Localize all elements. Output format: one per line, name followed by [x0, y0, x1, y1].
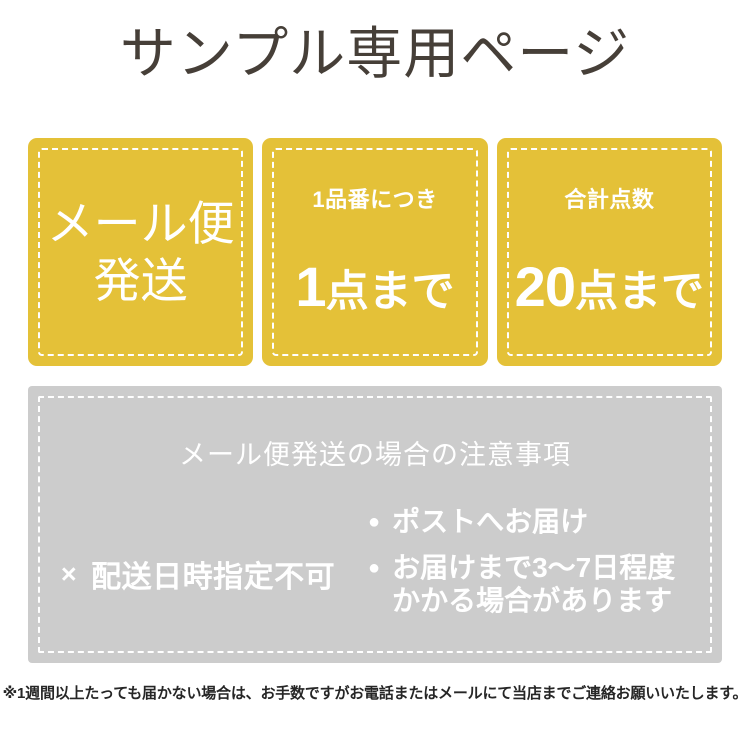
- per-item-number: 1: [295, 259, 325, 315]
- total-number: 20: [515, 259, 575, 315]
- list-item: ● ポストへお届け: [368, 506, 722, 538]
- no-date-designation-label: 配送日時指定不可: [91, 552, 335, 596]
- info-card-row: メール便 発送 1品番につき 1 点まで 合計点数 20 点まで: [28, 138, 722, 366]
- bullet-text-line1: お届けまで3〜7日程度: [392, 552, 675, 583]
- notice-heading: メール便発送の場合の注意事項: [28, 433, 722, 472]
- bullet-dot-icon: ●: [368, 506, 380, 538]
- notice-panel: メール便発送の場合の注意事項 × 配送日時指定不可 ● ポストへお届け ●: [28, 386, 722, 663]
- no-date-designation: × 配送日時指定不可: [61, 552, 335, 596]
- sample-page: サンプル専用ページ メール便 発送 1品番につき 1 点まで 合計点数 20 点…: [0, 0, 750, 750]
- per-item-caption: 1品番につき: [312, 189, 437, 211]
- per-item-value: 1 点まで: [295, 259, 454, 315]
- total-caption: 合計点数: [564, 189, 654, 211]
- bullet-text: ポストへお届け: [392, 506, 588, 538]
- card-per-item-limit: 1品番につき 1 点まで: [262, 138, 487, 366]
- bullet-text-line2: かかる場合があります: [392, 585, 672, 616]
- card-shipping-method: メール便 発送: [28, 138, 253, 366]
- total-unit: 点まで: [575, 271, 704, 314]
- dashed-border-decoration: [272, 148, 477, 356]
- bullet-dot-icon: ●: [368, 552, 380, 584]
- footnote: ※1週間以上たっても届かない場合は、お手数ですがお電話またはメールにて当店までご…: [0, 682, 750, 703]
- notice-body: × 配送日時指定不可 ● ポストへお届け ● お届けまで3〜7日程度 かかる場合…: [28, 504, 722, 644]
- shipping-method-line2: 発送: [94, 252, 188, 309]
- card-total-limit: 合計点数 20 点まで: [497, 138, 722, 366]
- list-item: ● お届けまで3〜7日程度 かかる場合があります: [368, 552, 722, 617]
- cross-icon: ×: [61, 561, 77, 588]
- notice-left-column: × 配送日時指定不可: [28, 504, 368, 644]
- total-value: 20 点まで: [515, 259, 704, 315]
- bullet-text-line1: ポストへお届け: [392, 506, 588, 537]
- shipping-method-line1: メール便: [47, 195, 235, 252]
- notice-right-column: ● ポストへお届け ● お届けまで3〜7日程度 かかる場合があります: [368, 504, 722, 617]
- page-title: サンプル専用ページ: [0, 26, 750, 82]
- dashed-border-decoration: [507, 148, 712, 356]
- bullet-text: お届けまで3〜7日程度 かかる場合があります: [392, 552, 675, 617]
- per-item-unit: 点まで: [326, 271, 455, 314]
